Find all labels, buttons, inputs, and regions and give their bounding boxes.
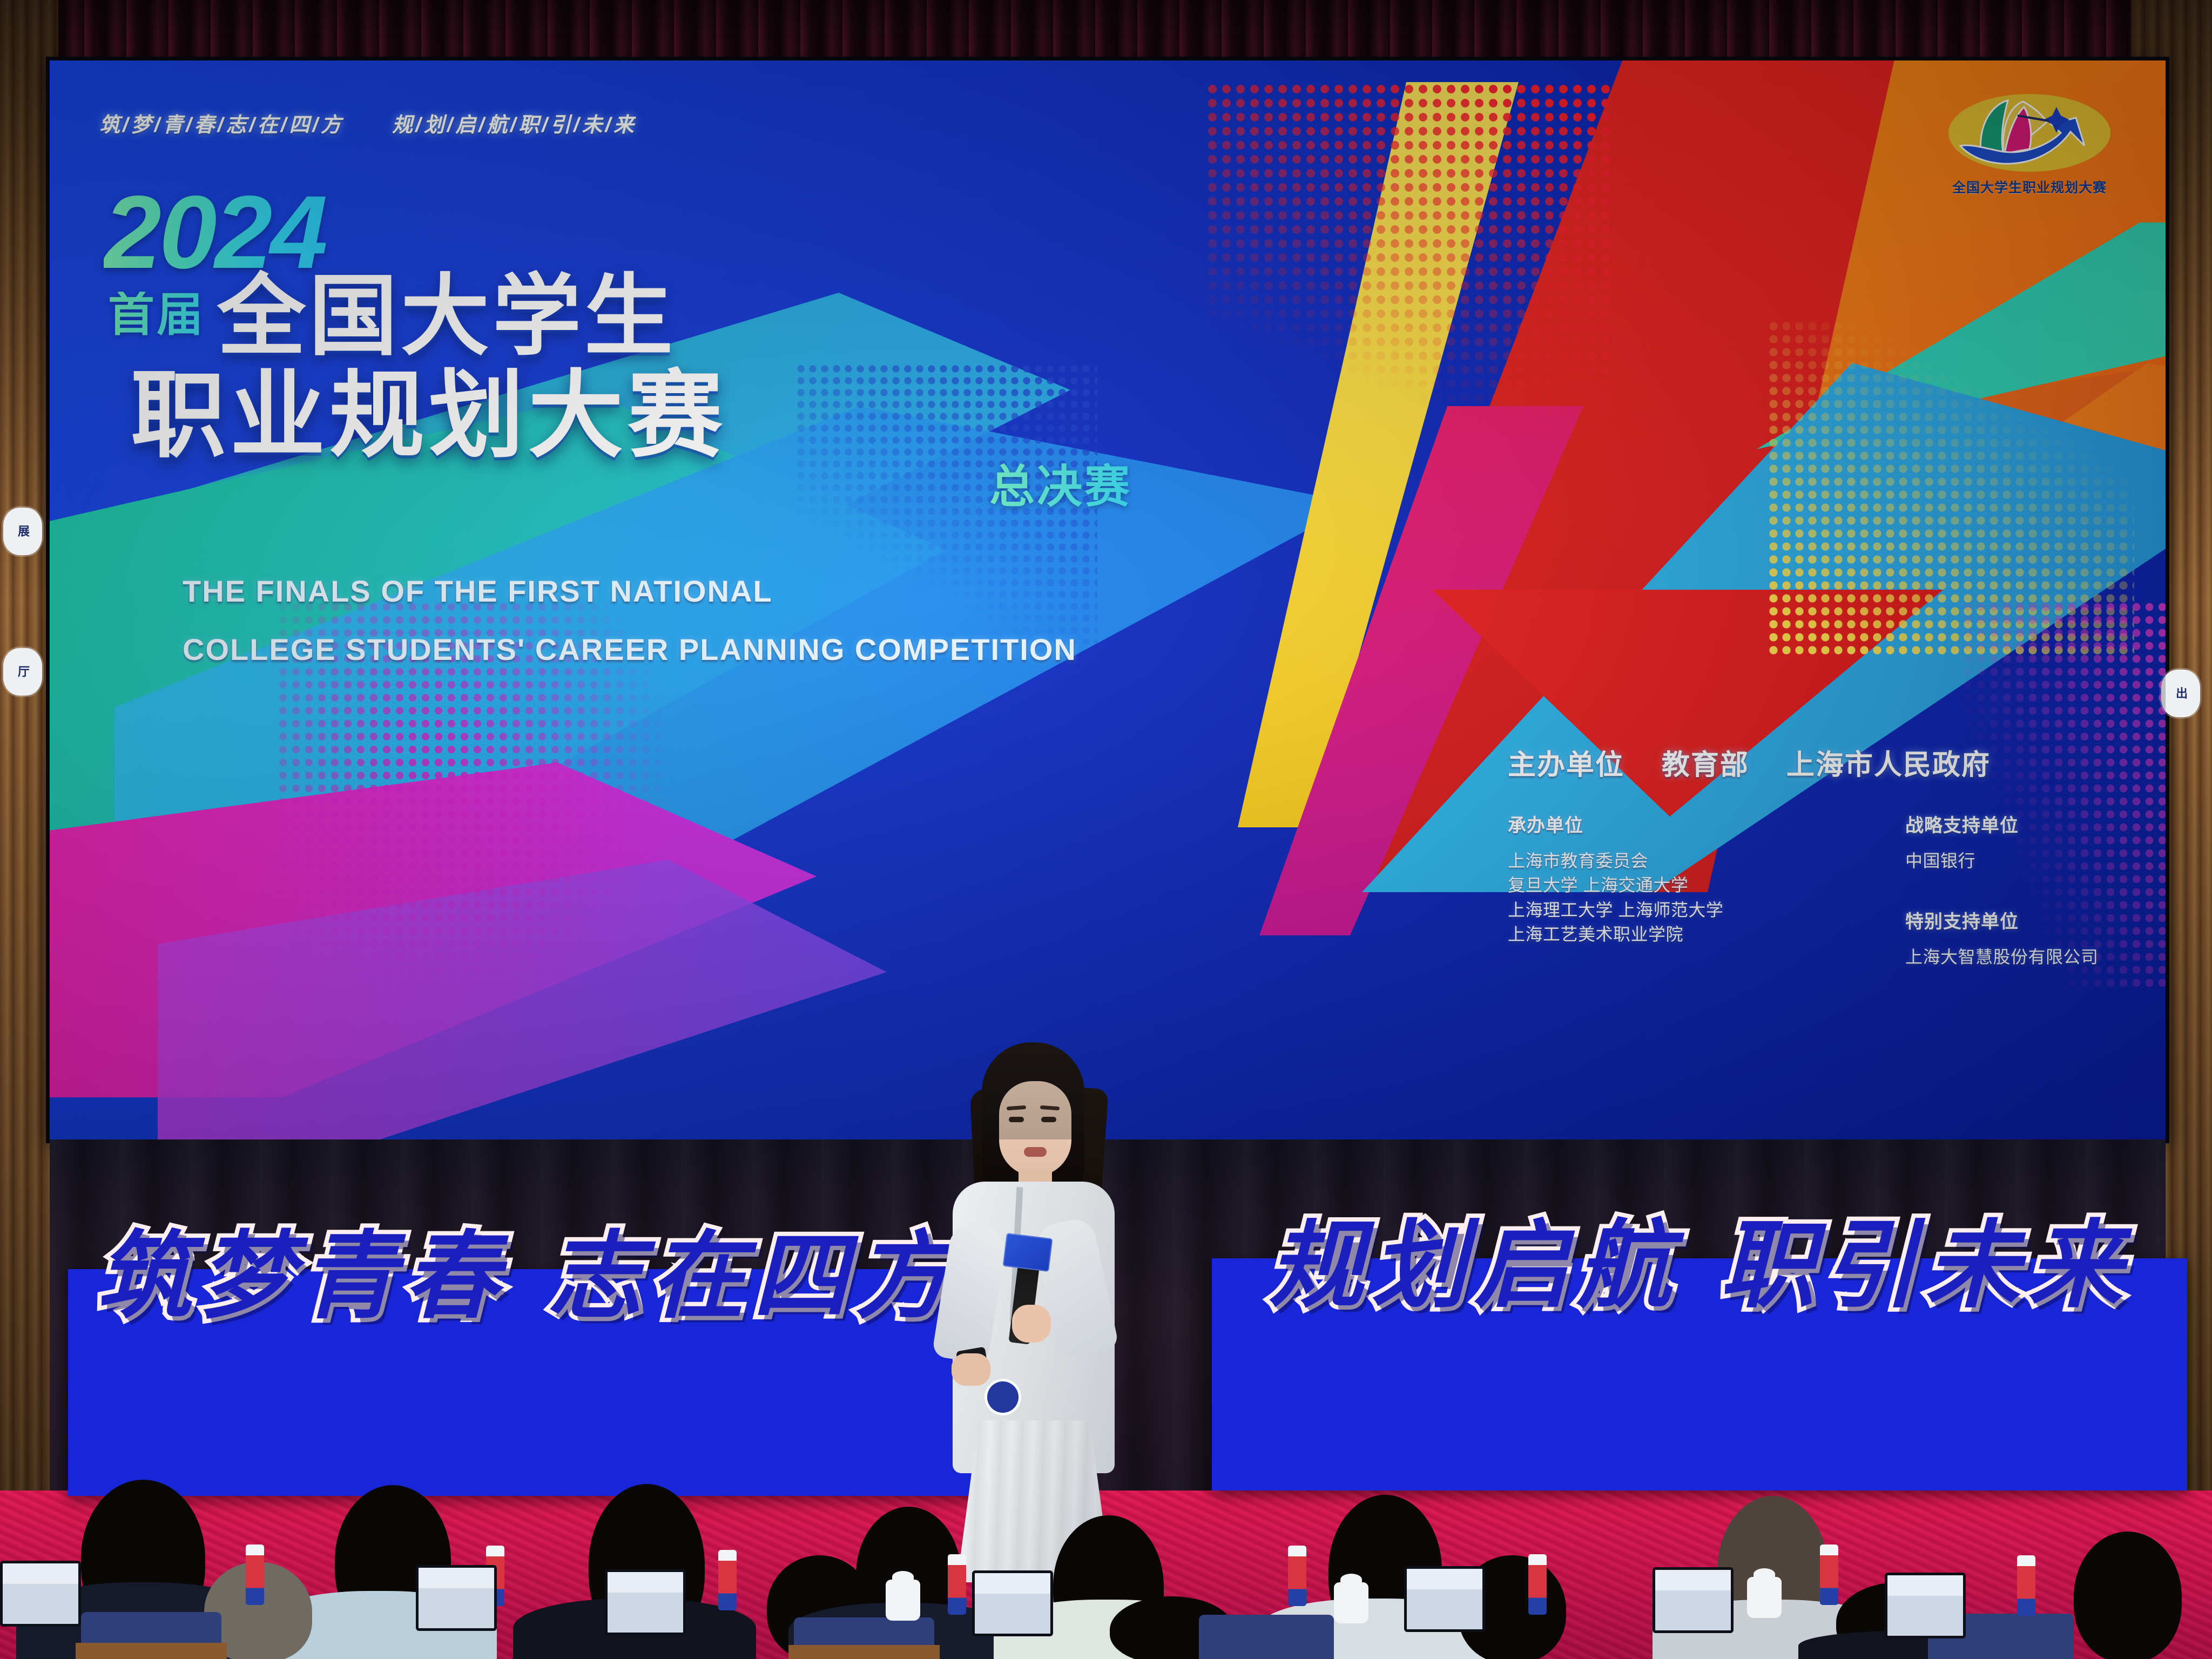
water-bottle (246, 1545, 264, 1605)
wall-plaque: 厅 (3, 648, 42, 696)
audience-head (2074, 1532, 2182, 1659)
presenter (918, 1042, 1145, 1588)
halftone-dots-red (1205, 82, 1616, 493)
executive-heading: 承办单位 (1508, 811, 1853, 837)
seat-chair-frame (788, 1645, 940, 1659)
executive-line: 上海理工大学 上海师范大学 (1508, 898, 1853, 922)
tea-cup (1334, 1582, 1368, 1623)
edition-label: 首届 (108, 292, 205, 338)
sail-wave-icon (1948, 94, 2110, 175)
organizers-block: 主办单位 教育部 上海市人民政府 承办单位 上海市教育委员会 复旦大学 上海交通… (1508, 742, 2150, 970)
executive-line: 上海工艺美术职业学院 (1508, 922, 1853, 947)
event-title-line1: 全国大学生 (217, 272, 676, 361)
tablet-device (1653, 1567, 1734, 1633)
banner-slogan-right: 规划启航 职引未来 (1212, 1188, 2187, 1326)
water-bottle (1820, 1545, 1838, 1605)
seat-chair (1199, 1615, 1334, 1659)
presenter-mouth (1024, 1147, 1047, 1157)
special-support-heading: 特别支持单位 (1905, 907, 2099, 933)
event-title-line2: 职业规划大赛 (131, 368, 727, 463)
presenter-badge (987, 1381, 1019, 1413)
tablet-device (1885, 1573, 1966, 1638)
tablet-device (416, 1565, 497, 1631)
tagline-right: 规/划/启/航/职/引/未/来 (392, 114, 637, 137)
presenter-eye (1009, 1117, 1024, 1122)
conference-stage-photo: 展 厅 出 筑/梦/青/春/志/在/四/方 规/划/启/航/职/引/未/来 (0, 0, 2212, 1659)
event-title-english-line1: THE FINALS OF THE FIRST NATIONAL (183, 574, 773, 609)
presenter-face (999, 1081, 1071, 1176)
host-value-2: 上海市人民政府 (1786, 750, 1991, 781)
wall-plaque: 展 (3, 508, 42, 555)
event-title-english-line2: COLLEGE STUDENTS' CAREER PLANNING COMPET… (183, 632, 1077, 667)
special-support-line: 上海大智慧股份有限公司 (1905, 945, 2099, 969)
microphone-flag (1003, 1233, 1053, 1272)
water-bottle (2017, 1555, 2035, 1616)
screen-tagline: 筑/梦/青/春/志/在/四/方 规/划/启/航/职/引/未/来 (99, 108, 637, 138)
event-year: 2024 (104, 186, 326, 279)
presenter-eye (1041, 1117, 1056, 1122)
tea-cup (1747, 1577, 1782, 1618)
water-bottle (948, 1554, 966, 1615)
host-line: 主办单位 教育部 上海市人民政府 (1508, 742, 2150, 783)
tablet-device (1404, 1566, 1485, 1632)
seat-chair-frame (76, 1643, 227, 1659)
strategic-support-heading: 战略支持单位 (1905, 811, 2099, 837)
logo-caption: 全国大学生职业规划大赛 (1943, 177, 2116, 197)
competition-logo: 全国大学生职业规划大赛 (1943, 94, 2116, 197)
water-bottle (1288, 1546, 1306, 1606)
banner-board-left: 筑梦青春 志在四方 (68, 1269, 986, 1496)
organizer-column-support: 战略支持单位 中国银行 特别支持单位 上海大智慧股份有限公司 (1905, 811, 2099, 970)
wall-plaque: 出 (2161, 670, 2200, 717)
presenter-right-hand (1012, 1305, 1051, 1343)
executive-line: 上海市教育委员会 (1508, 849, 1853, 873)
tablet-device (605, 1569, 686, 1635)
executive-line: 复旦大学 上海交通大学 (1508, 873, 1853, 898)
organizer-column-executive: 承办单位 上海市教育委员会 复旦大学 上海交通大学 上海理工大学 上海师范大学 … (1508, 811, 1853, 970)
water-bottle (1528, 1554, 1547, 1615)
logo-mark (1948, 94, 2110, 175)
event-stage-label: 总决赛 (989, 450, 1132, 516)
host-label: 主办单位 (1508, 750, 1624, 781)
presenter-left-hand (952, 1353, 990, 1386)
tea-cup (886, 1580, 920, 1621)
led-backdrop-screen: 筑/梦/青/春/志/在/四/方 规/划/启/航/职/引/未/来 2024 首届 … (50, 60, 2166, 1139)
banner-board-right: 规划启航 职引未来 (1212, 1258, 2187, 1491)
tablet-device (972, 1570, 1053, 1636)
strategic-support-line: 中国银行 (1905, 849, 2099, 873)
tablet-device (0, 1561, 81, 1627)
banner-slogan-left: 筑梦青春 志在四方 (68, 1199, 986, 1337)
water-bottle (718, 1550, 737, 1610)
tagline-left: 筑/梦/青/春/志/在/四/方 (99, 114, 344, 137)
host-value-1: 教育部 (1662, 750, 1749, 781)
